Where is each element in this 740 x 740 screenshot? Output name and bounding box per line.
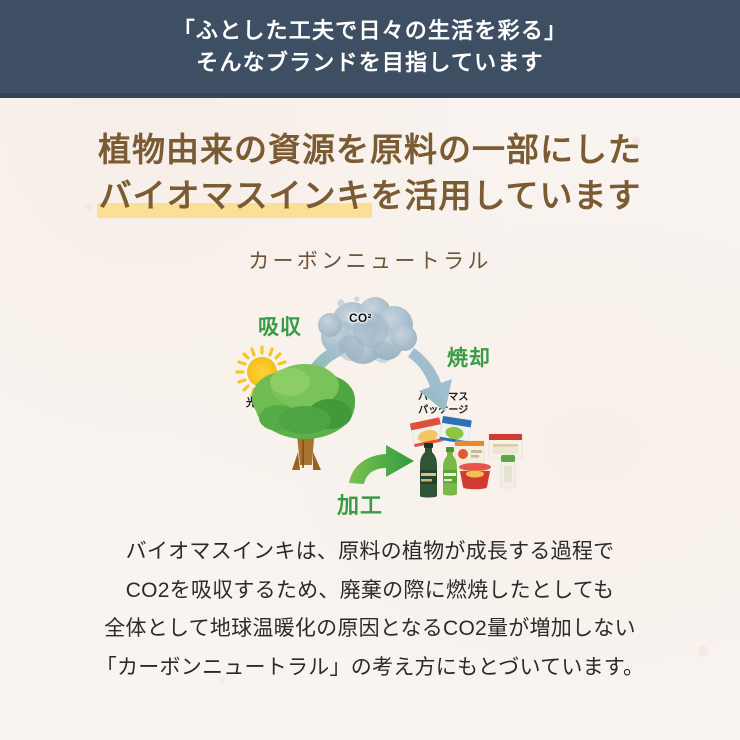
heading-line-2: バイオマスインキを活用しています [0, 173, 740, 219]
body-copy: バイオマスインキは、原料の植物が成長する過程で CO2を吸収するため、廃棄の際に… [0, 533, 740, 688]
header-band: 「ふとした工夫で日々の生活を彩る」 そんなブランドを目指しています [0, 0, 740, 93]
diagram-label-package: バイオマス パッケージ [418, 392, 469, 417]
diagram-label-package-line-1: バイオマス [418, 392, 469, 405]
body-line-2: CO2を吸収するため、廃棄の際に燃焼したとしても [0, 572, 740, 611]
body-line-4: 「カーボンニュートラル」の考え方にもとづいています。 [0, 649, 740, 688]
header-band-underline [0, 93, 740, 98]
diagram-label-burn: 焼却 [447, 342, 491, 372]
diagram-label-photosynthesis: 光合成 [246, 397, 279, 411]
diagram-label-process: 加工 [337, 488, 383, 520]
page-root: 「ふとした工夫で日々の生活を彩る」 そんなブランドを目指しています 植物由来の資… [0, 0, 740, 740]
heading-line-1: 植物由来の資源を原料の一部にした [0, 127, 740, 173]
header-line-1: 「ふとした工夫で日々の生活を彩る」 [173, 15, 568, 46]
diagram-label-absorb: 吸収 [258, 311, 302, 341]
co2-label: CO² [349, 311, 372, 325]
diagram-title: カーボンニュートラル [0, 245, 740, 275]
body-line-3: 全体として地球温暖化の原因となるCO2量が増加しない [0, 610, 740, 649]
page-title: 植物由来の資源を原料の一部にした バイオマスインキを活用しています [0, 127, 740, 219]
header-line-2: そんなブランドを目指しています [196, 47, 544, 78]
heading-highlight-term: バイオマスインキ [99, 173, 371, 219]
carbon-neutral-diagram: カーボンニュートラル 吸収 焼却 加工 光合成 バイオマス パッケージ [0, 245, 740, 530]
body-line-1: バイオマスインキは、原料の植物が成長する過程で [0, 533, 740, 572]
diagram-label-package-line-2: パッケージ [418, 405, 469, 418]
heading-line-2-rest: を活用しています [370, 177, 641, 214]
